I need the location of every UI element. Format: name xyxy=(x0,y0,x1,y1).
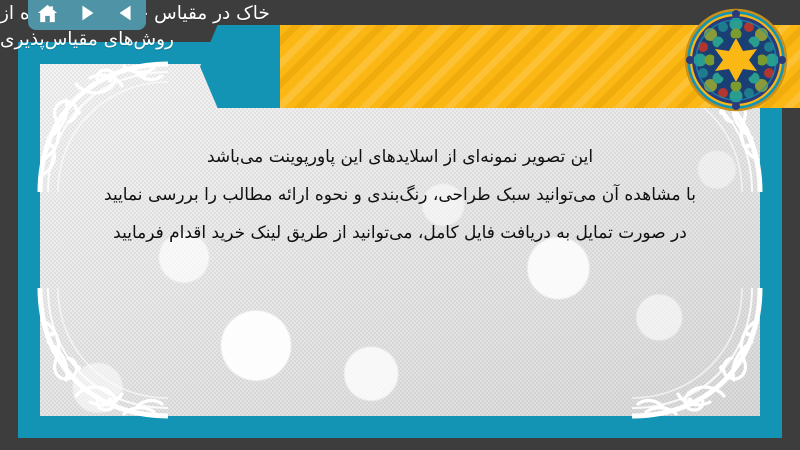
slide-body-text: این تصویر نمونه‌ای از اسلایدهای این پاور… xyxy=(58,138,742,252)
body-line-1: این تصویر نمونه‌ای از اسلایدهای این پاور… xyxy=(58,138,742,176)
home-icon xyxy=(36,2,59,25)
next-slide-button[interactable] xyxy=(74,0,100,26)
previous-slide-button[interactable] xyxy=(113,0,139,26)
triangle-left-icon xyxy=(115,2,137,24)
home-button[interactable] xyxy=(35,0,61,26)
title-banner-teal-tab xyxy=(200,25,280,108)
body-line-3: در صورت تمایل به دریافت فایل کامل، می‌تو… xyxy=(58,214,742,252)
body-line-2: با مشاهده آن می‌توانید سبک طراحی، رنگ‌بن… xyxy=(58,176,742,214)
presentation-slide-viewer: این تصویر نمونه‌ای از اسلایدهای این پاور… xyxy=(0,0,800,450)
islamic-rosette-medallion xyxy=(684,8,788,112)
navigation-toolbar[interactable] xyxy=(28,0,146,30)
triangle-right-icon xyxy=(76,2,98,24)
slide-title-banner xyxy=(0,25,800,108)
